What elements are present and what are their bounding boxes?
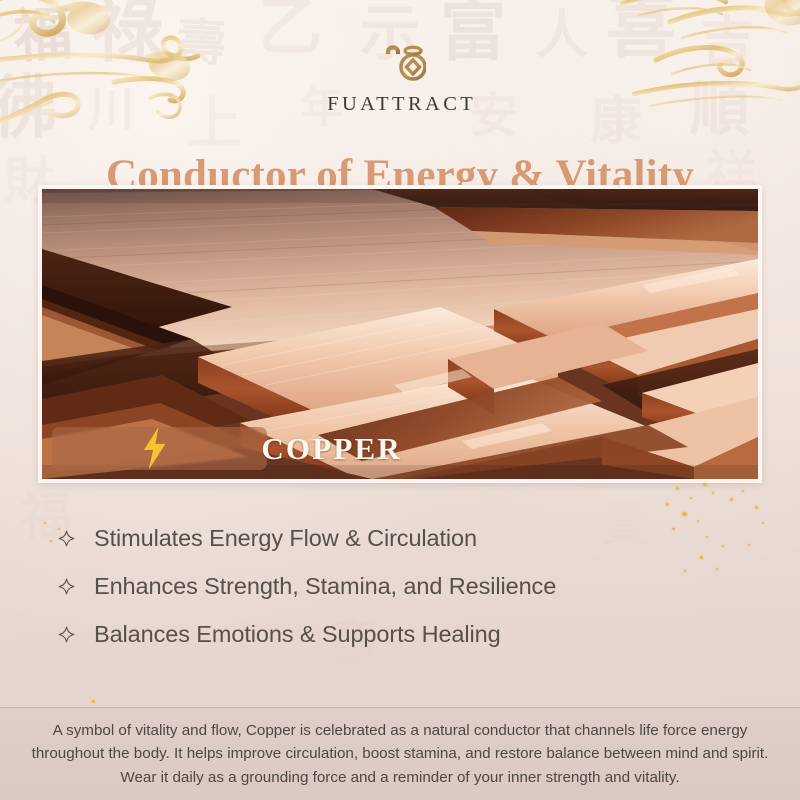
hero-image-frame: COPPER <box>38 185 762 483</box>
diamond-bullet-icon <box>58 626 75 643</box>
brand-logo: FUATTRACT <box>0 36 800 116</box>
list-item: Enhances Strength, Stamina, and Resilien… <box>58 562 760 610</box>
list-item: Stimulates Energy Flow & Circulation <box>58 514 760 562</box>
copper-badge: COPPER <box>52 427 267 470</box>
diamond-bullet-icon <box>58 530 75 547</box>
benefit-text: Enhances Strength, Stamina, and Resilien… <box>94 573 556 600</box>
copper-badge-label: COPPER <box>261 433 402 464</box>
list-item: Balances Emotions & Supports Healing <box>58 610 760 658</box>
footer-band: A symbol of vitality and flow, Copper is… <box>0 707 800 800</box>
poster-canvas: 福 祿 壽 乙 示 富 人 喜 吉 彿 川 上 年 安 康 順 財 祥 福 貴 … <box>0 0 800 800</box>
benefit-text: Balances Emotions & Supports Healing <box>94 621 501 648</box>
lightning-bolt-icon <box>62 427 247 470</box>
benefits-list: Stimulates Energy Flow & Circulation Enh… <box>58 514 760 658</box>
footer-description: A symbol of vitality and flow, Copper is… <box>26 719 774 788</box>
brand-wordmark: FUATTRACT <box>324 93 476 116</box>
benefit-text: Stimulates Energy Flow & Circulation <box>94 525 477 552</box>
fuattract-monogram-icon <box>374 36 426 86</box>
diamond-bullet-icon <box>58 578 75 595</box>
copper-bars-photo: COPPER <box>42 189 758 479</box>
